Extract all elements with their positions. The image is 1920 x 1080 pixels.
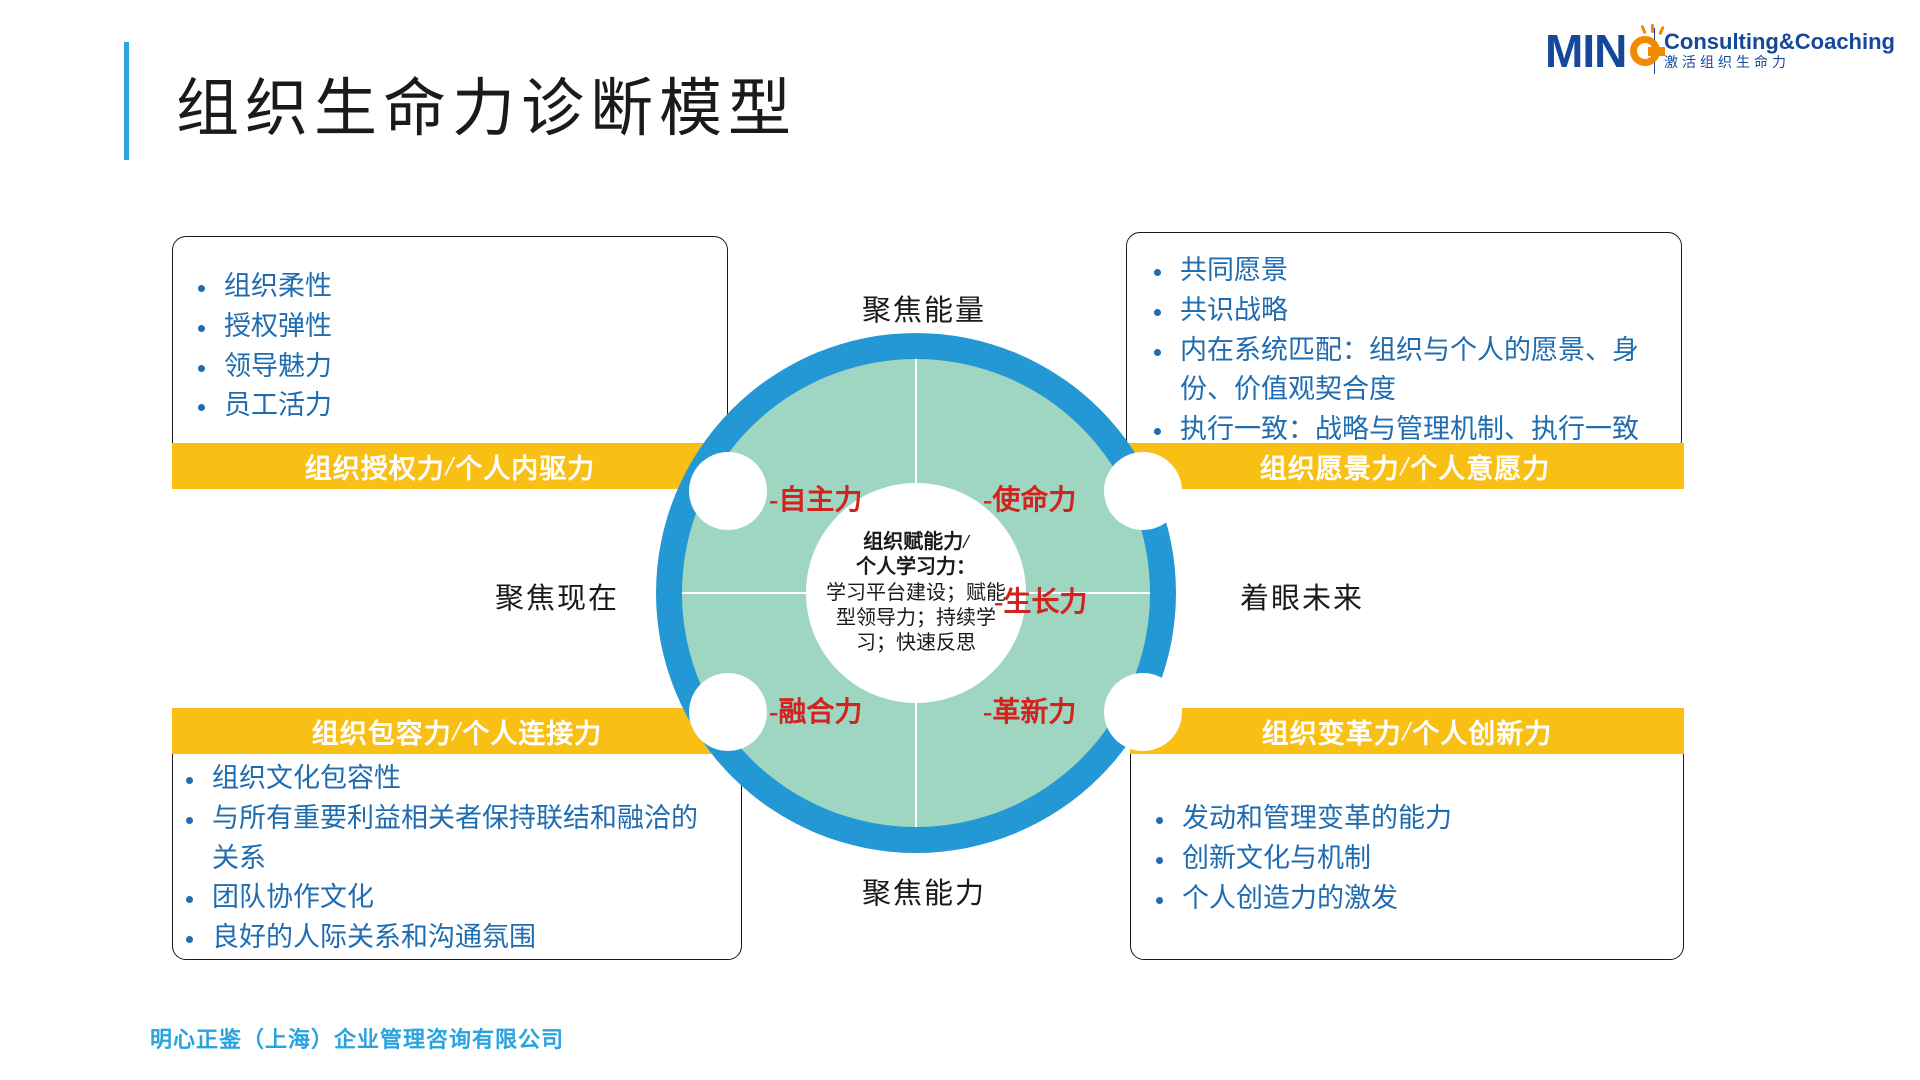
list-item: 共同愿景 [1146,252,1676,290]
axis-label-left: 聚焦现在 [495,575,619,617]
logo-wordmark: MIN [1545,28,1626,74]
logo-g-sun-icon [1627,28,1646,74]
list-item-label: 份、价值观契合度 [1180,374,1396,404]
list-item-continuation: 关系 [178,840,738,878]
list-item-label: 组织文化包容性 [212,763,401,793]
list-item-label: 执行一致：战略与管理机制、执行一致 [1180,414,1639,444]
band-label-right: 个人意愿力 [1410,447,1550,486]
band-label-right: 个人内驱力 [455,447,595,486]
band-label-left: 组织包容力 [312,712,452,751]
hub-title: 组织赋能力/ 个人学习力： [856,530,976,580]
list-item: 创新文化与机制 [1148,840,1678,878]
band-slash: / [1402,716,1413,747]
wheel-knob-top-left [689,452,767,530]
hub-title-sub: 个人学习力： [856,556,976,578]
quadrant-label-mission: -使命力 [983,478,1076,518]
hub-body-text: 学习平台建设；赋能型领导力；持续学习；快速反思 [826,581,1006,656]
band-label-right: 个人创新力 [1412,712,1552,751]
list-item-label: 个人创造力的激发 [1182,883,1398,913]
wheel-knob-bottom-right [1104,673,1182,751]
band-label-left: 组织愿景力 [1260,447,1400,486]
list-item: 团队协作文化 [178,879,738,917]
band-label-left: 组织授权力 [305,447,445,486]
logo-tagline-cn: 激活组织生命力 [1664,53,1895,73]
list-item-label: 创新文化与机制 [1182,843,1371,873]
hub-title-main: 组织赋能力 [863,531,963,553]
list-item-label: 关系 [212,843,266,873]
list-item-label: 与所有重要利益相关者保持联结和融洽的 [212,803,698,833]
band-slash: / [1400,451,1411,482]
band-slash: / [445,451,456,482]
hub-title-slash: / [963,531,969,553]
axis-label-bottom: 聚焦能力 [862,870,986,912]
logo-tagline-en: Consulting&Coaching [1664,30,1895,53]
list-item: 共识战略 [1146,292,1676,330]
list-item-label: 授权弹性 [224,311,332,341]
title-accent-bar [124,42,129,160]
band-label-left: 组织变革力 [1262,712,1402,751]
list-item-label: 良好的人际关系和沟通氛围 [212,922,536,952]
axis-label-top: 聚焦能量 [862,287,986,329]
list-item-label: 团队协作文化 [212,882,374,912]
list-item-label: 共同愿景 [1180,255,1288,285]
quadrant-label-growth: -生长力 [994,580,1087,620]
band-organization-change: 组织变革力 / 个人创新力 [1130,708,1684,754]
bullet-list-top-left: 组织柔性 授权弹性 领导魅力 员工活力 [190,268,710,427]
list-item-label: 发动和管理变革的能力 [1182,803,1452,833]
list-item-label: 共识战略 [1180,295,1288,325]
quadrant-label-integration: -融合力 [769,690,862,730]
quadrant-label-innovation: -革新力 [983,690,1076,730]
list-item: 与所有重要利益相关者保持联结和融洽的 [178,800,738,838]
list-item: 良好的人际关系和沟通氛围 [178,919,738,957]
list-item-label: 内在系统匹配：组织与个人的愿景、身 [1180,335,1639,365]
list-item: 组织文化包容性 [178,760,738,798]
page-title: 组织生命力诊断模型 [176,58,797,149]
list-item: 授权弹性 [190,308,710,346]
list-item: 个人创造力的激发 [1148,880,1678,918]
list-item: 组织柔性 [190,268,710,306]
list-item: 内在系统匹配：组织与个人的愿景、身 [1146,332,1676,370]
wheel-knob-top-right [1104,452,1182,530]
band-organization-vision: 组织愿景力 / 个人意愿力 [1126,443,1684,489]
vitality-wheel-diagram: 组织赋能力/ 个人学习力： 学习平台建设；赋能型领导力；持续学习；快速反思 [656,333,1176,853]
band-organization-empowerment: 组织授权力 / 个人内驱力 [172,443,728,489]
list-item-continuation: 份、价值观契合度 [1146,371,1676,409]
list-item-label: 组织柔性 [224,271,332,301]
axis-label-right: 着眼未来 [1240,575,1364,617]
bullet-list-bottom-left: 组织文化包容性 与所有重要利益相关者保持联结和融洽的 关系 团队协作文化 良好的… [178,760,738,959]
footer-company-name: 明心正鉴（上海）企业管理咨询有限公司 [150,1022,564,1054]
band-label-right: 个人连接力 [462,712,602,751]
band-slash: / [452,716,463,747]
list-item: 领导魅力 [190,348,710,386]
quadrant-label-autonomy: -自主力 [769,478,862,518]
bullet-list-top-right: 共同愿景 共识战略 内在系统匹配：组织与个人的愿景、身 份、价值观契合度 执行一… [1146,252,1676,451]
list-item: 发动和管理变革的能力 [1148,800,1678,838]
list-item: 员工活力 [190,387,710,425]
list-item-label: 领导魅力 [224,351,332,381]
list-item-label: 员工活力 [224,390,332,420]
wheel-knob-bottom-left [689,673,767,751]
company-logo: MIN Consulting&Coaching 激活组织生命力 [1545,18,1895,84]
bullet-list-bottom-right: 发动和管理变革的能力 创新文化与机制 个人创造力的激发 [1148,800,1678,919]
